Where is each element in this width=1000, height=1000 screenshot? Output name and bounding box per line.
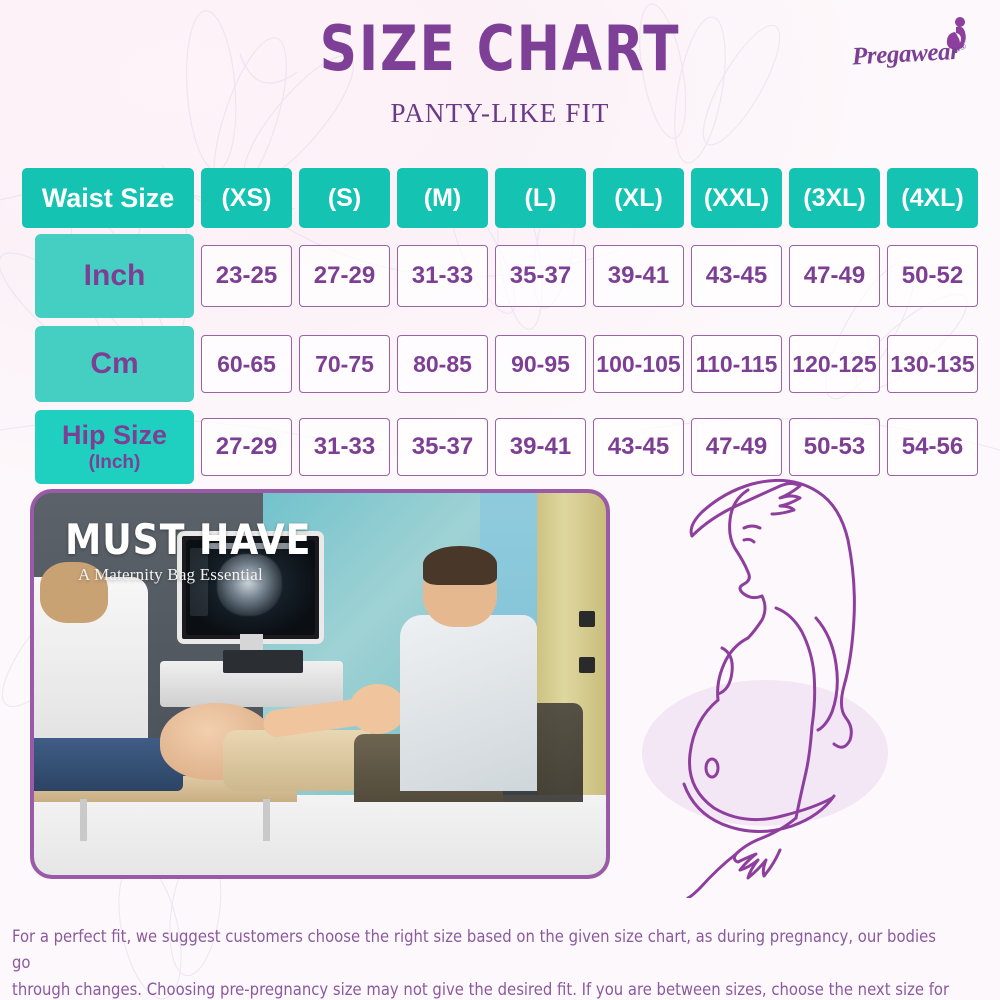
brand-wordmark: Pregawear® xyxy=(851,37,984,72)
table-cell: 35-37 xyxy=(397,418,488,476)
table-cell: 60-65 xyxy=(201,335,292,393)
row-label-cm: Cm xyxy=(35,326,194,402)
table-header-row: Waist Size (XS) (S) (M) (L) (XL) (XXL) (… xyxy=(22,168,978,228)
page-header: SIZE CHART PANTY-LIKE FIT Pregawear® xyxy=(0,0,1000,150)
size-header-m: (M) xyxy=(397,168,488,228)
row-label-inch-text: Inch xyxy=(84,259,146,293)
row-label-cm-text: Cm xyxy=(90,347,138,381)
inch-value-cells: 23-25 27-29 31-33 35-37 39-41 43-45 47-4… xyxy=(201,234,978,318)
trademark-symbol: ® xyxy=(959,41,966,51)
table-cell: 70-75 xyxy=(299,335,390,393)
brand-logo[interactable]: Pregawear® xyxy=(852,16,984,82)
table-cell: 90-95 xyxy=(495,335,586,393)
size-header-xs: (XS) xyxy=(201,168,292,228)
row-label-hip-unit: (Inch) xyxy=(89,452,141,474)
row-label-inch: Inch xyxy=(35,234,194,318)
footer-line-1: For a perfect fit, we suggest customers … xyxy=(12,924,951,977)
table-row-inch: Inch 23-25 27-29 31-33 35-37 39-41 43-45… xyxy=(22,234,978,318)
brand-name: Pregawear xyxy=(851,38,960,71)
table-cell: 39-41 xyxy=(495,418,586,476)
size-header-xl: (XL) xyxy=(593,168,684,228)
size-header-xxl: (XXL) xyxy=(691,168,782,228)
table-cell: 31-33 xyxy=(397,245,488,307)
footer-line-2: through changes. Choosing pre-pregnancy … xyxy=(12,977,951,1000)
table-cell: 100-105 xyxy=(593,335,684,393)
must-have-subhead: A Maternity Bag Essential xyxy=(78,565,263,585)
table-cell: 35-37 xyxy=(495,245,586,307)
page-subtitle: PANTY-LIKE FIT xyxy=(0,98,1000,129)
table-cell: 47-49 xyxy=(789,245,880,307)
table-cell: 39-41 xyxy=(593,245,684,307)
table-cell: 43-45 xyxy=(691,245,782,307)
fit-advice-footer: For a perfect fit, we suggest customers … xyxy=(12,924,951,1000)
table-cell: 110-115 xyxy=(691,335,782,393)
row-label-hip-text: Hip Size xyxy=(62,420,167,451)
row-label-hip-size: Hip Size (Inch) xyxy=(35,410,194,484)
page-title: SIZE CHART xyxy=(35,18,965,80)
table-cell: 31-33 xyxy=(299,418,390,476)
table-cell: 27-29 xyxy=(201,418,292,476)
table-row-cm: Cm 60-65 70-75 80-85 90-95 100-105 110-1… xyxy=(22,326,978,402)
cm-value-cells: 60-65 70-75 80-85 90-95 100-105 110-115 … xyxy=(201,326,978,402)
size-header-l: (L) xyxy=(495,168,586,228)
pregnant-woman-line-art xyxy=(640,468,990,898)
size-header-3xl: (3XL) xyxy=(789,168,880,228)
lineart-background-blob xyxy=(642,680,888,826)
header-waist-size: Waist Size xyxy=(22,168,194,228)
table-cell: 130-135 xyxy=(887,335,978,393)
table-cell: 23-25 xyxy=(201,245,292,307)
size-header-4xl: (4XL) xyxy=(887,168,978,228)
header-size-cells: (XS) (S) (M) (L) (XL) (XXL) (3XL) (4XL) xyxy=(201,168,978,228)
table-cell: 27-29 xyxy=(299,245,390,307)
table-cell: 50-52 xyxy=(887,245,978,307)
must-have-headline: MUST HAVE xyxy=(65,515,311,564)
size-chart-page: SIZE CHART PANTY-LIKE FIT Pregawear® Wai… xyxy=(0,0,1000,1000)
must-have-photo-card: MUST HAVE A Maternity Bag Essential xyxy=(30,489,610,879)
size-table: Waist Size (XS) (S) (M) (L) (XL) (XXL) (… xyxy=(22,168,978,492)
photo-text-overlay: MUST HAVE A Maternity Bag Essential xyxy=(34,493,606,875)
size-header-s: (S) xyxy=(299,168,390,228)
table-cell: 120-125 xyxy=(789,335,880,393)
table-cell: 80-85 xyxy=(397,335,488,393)
